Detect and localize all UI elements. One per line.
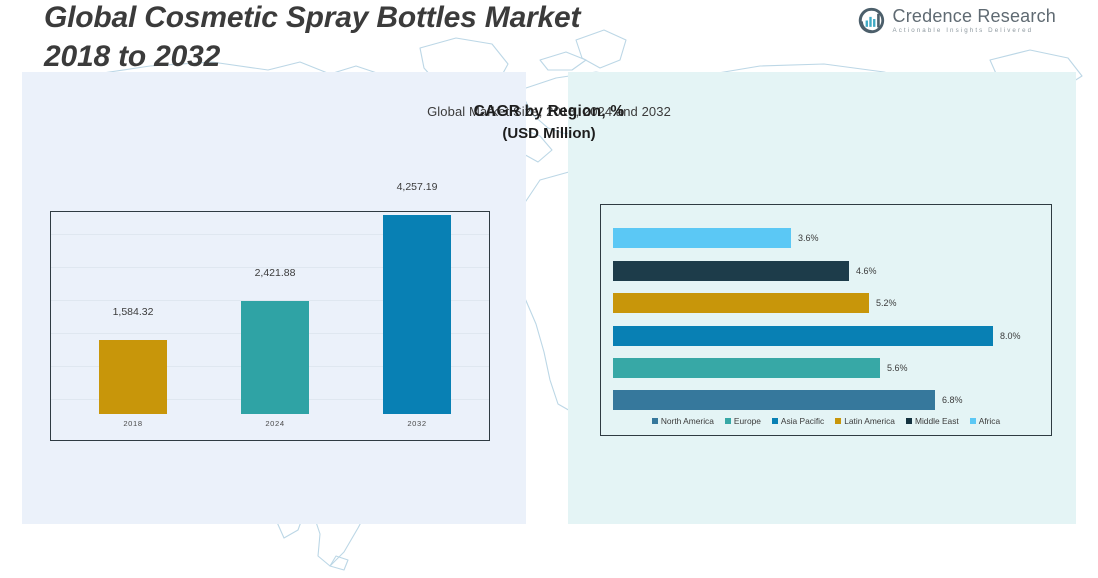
- legend-label-europe: Europe: [734, 416, 761, 426]
- cagr-row-europe: 5.6%: [613, 358, 908, 378]
- cagr-row-north-america: 6.8%: [613, 390, 963, 410]
- legend-label-africa: Africa: [979, 416, 1000, 426]
- cagr-bar-africa[interactable]: [613, 228, 791, 248]
- legend-swatch-europe: [725, 418, 731, 424]
- cagr-legend: North America Europe Asia Pacific Latin …: [601, 416, 1051, 426]
- cagr-row-latin-america: 5.2%: [613, 293, 897, 313]
- cagr-bar-middle-east[interactable]: [613, 261, 849, 281]
- cagr-bar-europe[interactable]: [613, 358, 880, 378]
- left-chart-unit: (USD Million): [0, 125, 1098, 142]
- legend-swatch-north-america: [652, 418, 658, 424]
- brand-logo[interactable]: Credence Research Actionable Insights De…: [857, 6, 1056, 35]
- logo-tagline: Actionable Insights Delivered: [893, 28, 1056, 34]
- cagr-bar-asia-pacific[interactable]: [613, 326, 993, 346]
- cagr-row-middle-east: 4.6%: [613, 261, 877, 281]
- cagr-value-europe: 5.6%: [887, 363, 908, 373]
- legend-label-north-america: North America: [661, 416, 714, 426]
- legend-item-asia-pacific[interactable]: Asia Pacific: [772, 416, 824, 426]
- bar-value-2018: 1,584.32: [77, 306, 189, 318]
- cagr-row-asia-pacific: 8.0%: [613, 326, 1021, 346]
- legend-swatch-middle-east: [906, 418, 912, 424]
- right-chart-title: CAGR by Region, %: [0, 103, 1098, 121]
- cagr-value-middle-east: 4.6%: [856, 266, 877, 276]
- chart-x-axis: 2018 2024 2032: [51, 419, 489, 433]
- infographic-root: Global Cosmetic Spray Bottles Market 201…: [0, 0, 1098, 578]
- legend-item-europe[interactable]: Europe: [725, 416, 761, 426]
- page-title: Global Cosmetic Spray Bottles Market 201…: [44, 0, 744, 76]
- market-size-bar-chart: 1,584.32 2,421.88 4,257.19 2018 2024 203…: [50, 211, 490, 441]
- legend-item-north-america[interactable]: North America: [652, 416, 714, 426]
- cagr-bar-north-america[interactable]: [613, 390, 935, 410]
- logo-name: Credence Research: [893, 7, 1056, 25]
- bar-2032[interactable]: [383, 215, 451, 414]
- bar-2018[interactable]: [99, 340, 167, 414]
- cagr-by-region-bar-chart: 3.6% 4.6% 5.2% 8.0% 5.6% 6.8%: [600, 204, 1052, 436]
- credence-bar-chart-circle-icon: [857, 6, 886, 35]
- logo-text: Credence Research Actionable Insights De…: [893, 7, 1056, 34]
- cagr-value-north-america: 6.8%: [942, 395, 963, 405]
- legend-label-latin-america: Latin America: [844, 416, 895, 426]
- cagr-value-asia-pacific: 8.0%: [1000, 331, 1021, 341]
- page-title-line-2: 2018 to 2032: [44, 37, 744, 76]
- legend-item-africa[interactable]: Africa: [970, 416, 1000, 426]
- legend-label-middle-east: Middle East: [915, 416, 959, 426]
- legend-item-latin-america[interactable]: Latin America: [835, 416, 895, 426]
- cagr-row-africa: 3.6%: [613, 228, 819, 248]
- legend-swatch-asia-pacific: [772, 418, 778, 424]
- x-tick-2032: 2032: [372, 419, 462, 428]
- cagr-bar-latin-america[interactable]: [613, 293, 869, 313]
- x-tick-2018: 2018: [88, 419, 178, 428]
- cagr-value-latin-america: 5.2%: [876, 298, 897, 308]
- x-tick-2024: 2024: [230, 419, 320, 428]
- bar-value-2032: 4,257.19: [361, 181, 473, 193]
- legend-swatch-africa: [970, 418, 976, 424]
- page-title-line-1: Global Cosmetic Spray Bottles Market: [44, 0, 744, 37]
- cagr-value-africa: 3.6%: [798, 233, 819, 243]
- legend-label-asia-pacific: Asia Pacific: [781, 416, 824, 426]
- chart-plot-area: 1,584.32 2,421.88 4,257.19: [51, 218, 489, 414]
- bar-value-2024: 2,421.88: [219, 267, 331, 279]
- bar-2024[interactable]: [241, 301, 309, 414]
- legend-swatch-latin-america: [835, 418, 841, 424]
- header: Global Cosmetic Spray Bottles Market 201…: [0, 0, 1098, 72]
- legend-item-middle-east[interactable]: Middle East: [906, 416, 959, 426]
- cagr-bar-rows: 3.6% 4.6% 5.2% 8.0% 5.6% 6.8%: [613, 220, 1043, 390]
